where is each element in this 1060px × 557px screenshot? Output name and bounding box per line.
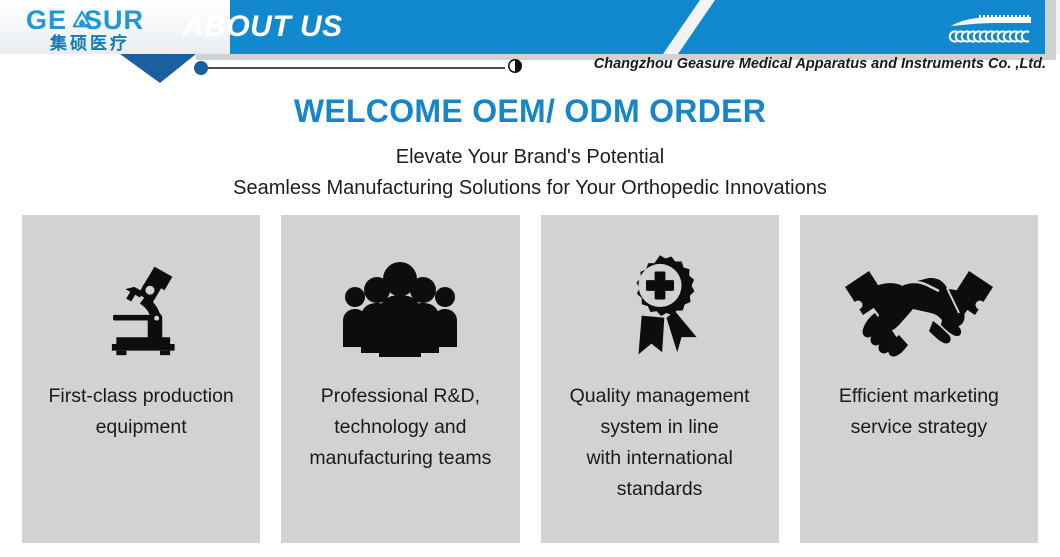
card-text-line: Professional R&D, bbox=[288, 381, 512, 412]
card-text-line: system in line bbox=[548, 412, 772, 443]
card-text-line: Quality management bbox=[548, 381, 772, 412]
card-icon-wrap bbox=[605, 247, 715, 367]
subtitle-line-1: Elevate Your Brand's Potential bbox=[0, 143, 1060, 171]
card-text-line: standards bbox=[548, 474, 772, 505]
card-icon-wrap bbox=[339, 247, 461, 367]
card-text-line: manufacturing teams bbox=[288, 443, 512, 474]
card-text-line: Efficient marketing bbox=[807, 381, 1031, 412]
company-name: Changzhou Geasure Medical Apparatus and … bbox=[594, 54, 1046, 74]
page-header: GE SUR 集硕医疗 ABOUT US bbox=[0, 0, 1060, 85]
card-text: Quality management system in line with i… bbox=[548, 381, 772, 505]
microscope-icon bbox=[85, 251, 197, 363]
card-text: First-class production equipment bbox=[29, 381, 253, 443]
handshake-icon bbox=[839, 255, 999, 359]
water-drop-icon bbox=[71, 9, 93, 31]
card-text-line: service strategy bbox=[807, 412, 1031, 443]
team-people-icon bbox=[339, 253, 461, 361]
card-text: Professional R&D, technology and manufac… bbox=[288, 381, 512, 474]
card-icon-wrap bbox=[839, 247, 999, 367]
brand-wordmark-part1: GE bbox=[26, 5, 67, 35]
card-text-line: with international bbox=[548, 443, 772, 474]
card-text: Efficient marketing service strategy bbox=[807, 381, 1031, 443]
feature-card[interactable]: Quality management system in line with i… bbox=[541, 215, 779, 543]
subtitle-line-2: Seamless Manufacturing Solutions for You… bbox=[0, 174, 1060, 202]
half-circle-bullet-icon bbox=[508, 59, 522, 73]
feature-card[interactable]: Efficient marketing service strategy bbox=[800, 215, 1038, 543]
card-icon-wrap bbox=[85, 247, 197, 367]
page-title: WELCOME OEM/ ODM ORDER bbox=[0, 90, 1060, 132]
card-text-line: technology and bbox=[288, 412, 512, 443]
card-text-line: equipment bbox=[29, 412, 253, 443]
about-us-banner-page: GE SUR 集硕医疗 ABOUT US bbox=[0, 0, 1060, 557]
brand-logo[interactable]: GE SUR 集硕医疗 bbox=[26, 4, 176, 54]
bone-screw-thread-icon bbox=[945, 14, 1037, 44]
brand-chinese-name: 集硕医疗 bbox=[50, 34, 130, 54]
brand-wordmark-part2: SUR bbox=[84, 5, 144, 35]
award-ribbon-medical-icon bbox=[605, 251, 715, 363]
feature-card-list: First-class production equipment bbox=[22, 215, 1038, 543]
card-text-line: First-class production bbox=[29, 381, 253, 412]
banner-title: ABOUT US bbox=[182, 8, 343, 46]
feature-card[interactable]: First-class production equipment bbox=[22, 215, 260, 543]
feature-card[interactable]: Professional R&D, technology and manufac… bbox=[281, 215, 519, 543]
